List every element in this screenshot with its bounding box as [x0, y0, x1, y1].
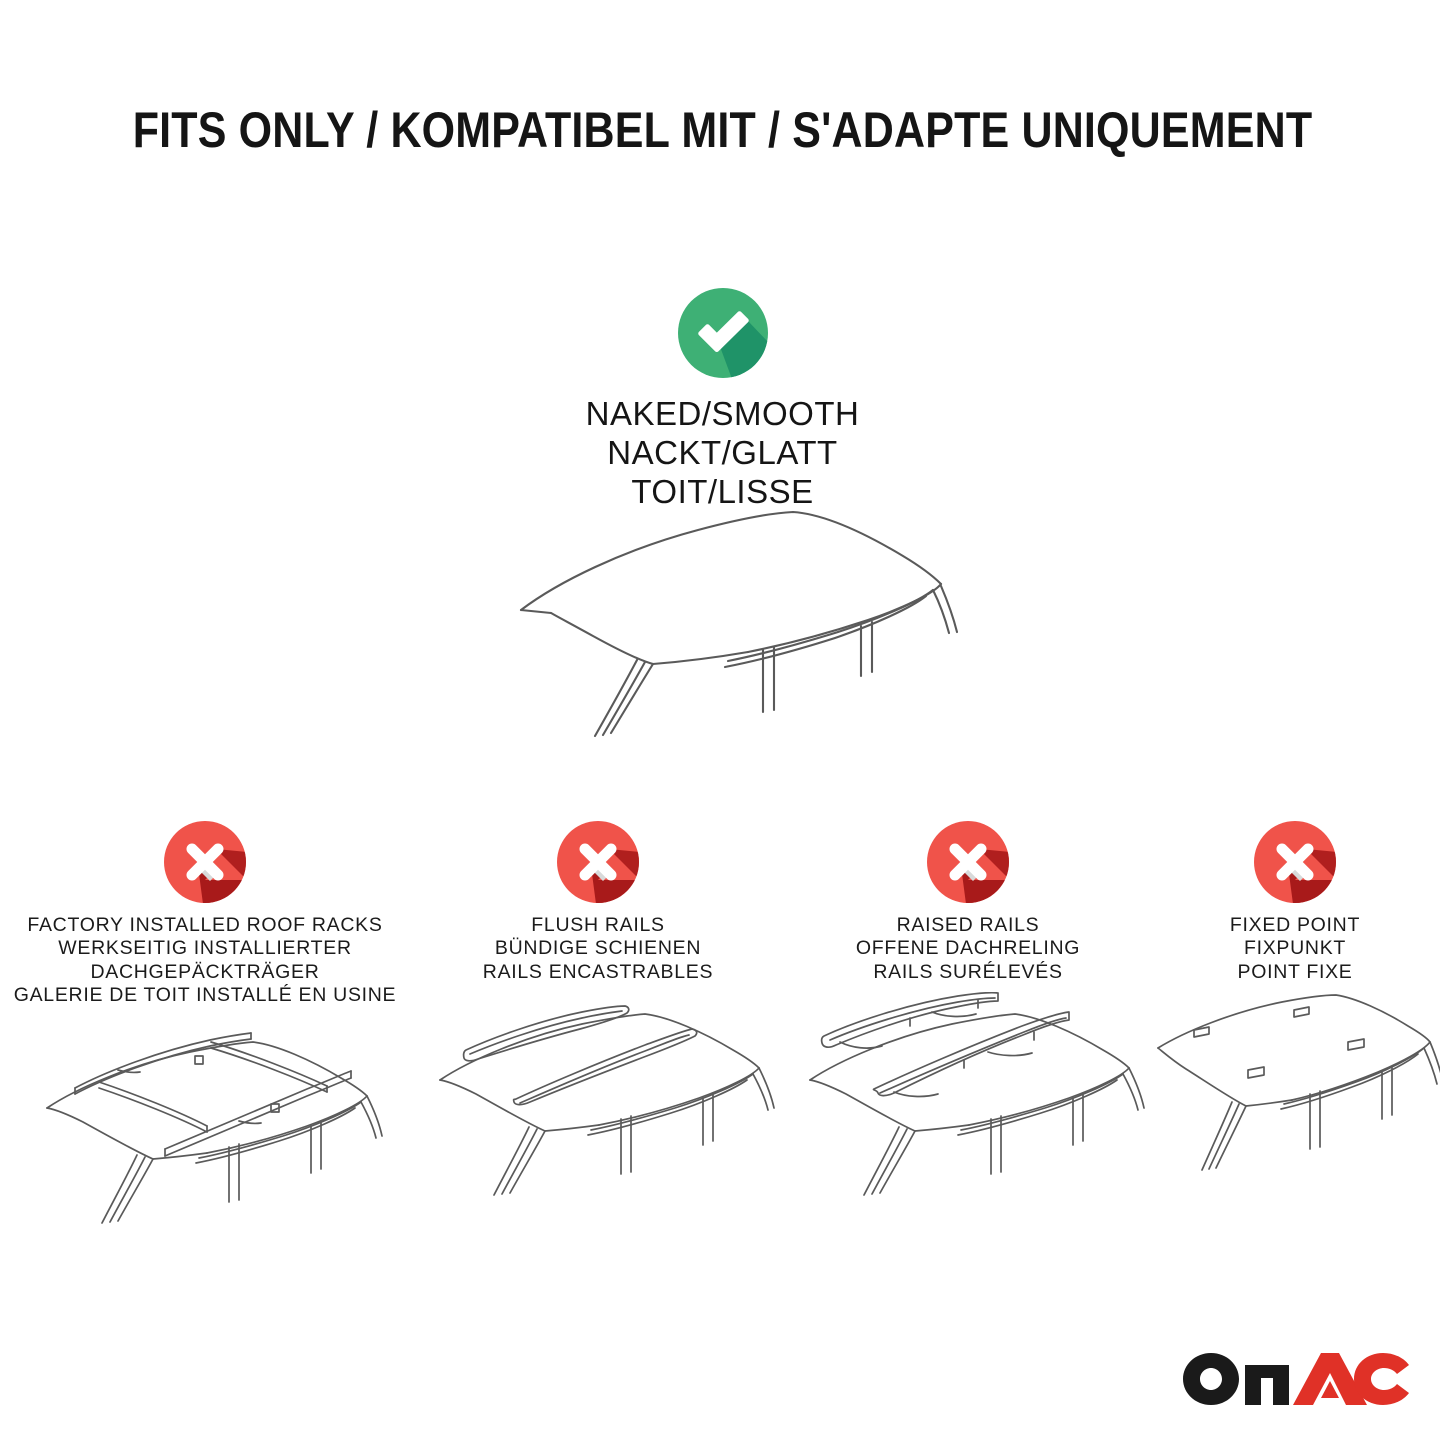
incompatible-label-1-line-2: RAILS ENCASTRABLES	[412, 961, 784, 984]
incompatible-label-0-line-1: WERKSEITIG INSTALLIERTER	[5, 937, 405, 960]
x-circle-svg	[926, 820, 1010, 904]
omac-logo-svg	[1181, 1351, 1411, 1407]
incompatible-label-3-line-1: FIXPUNKT	[1150, 937, 1440, 960]
car-roof-factory-roof-racks-illustration	[5, 1016, 405, 1231]
compatible-label-line-0: NAKED/SMOOTH	[0, 395, 1445, 434]
header: FITS ONLY / KOMPATIBEL MIT / S'ADAPTE UN…	[0, 104, 1445, 157]
incompatible-label-0-line-2: DACHGEPÄCKTRÄGER	[5, 961, 405, 984]
car-roof-naked-smooth-svg	[463, 490, 983, 740]
x-circle-svg	[163, 820, 247, 904]
car-roof-flush-rails-illustration	[412, 992, 784, 1207]
incompatible-label-2-line-0: RAISED RAILS	[782, 914, 1154, 937]
page-title: FITS ONLY / KOMPATIBEL MIT / S'ADAPTE UN…	[101, 104, 1344, 157]
car-roof-factory-roof-racks-svg	[15, 1016, 395, 1231]
incompatible-item-flush-rails: FLUSH RAILS BÜNDIGE SCHIENEN RAILS ENCAS…	[412, 820, 784, 1207]
omac-logo	[1181, 1351, 1411, 1407]
incompatible-label-1-line-0: FLUSH RAILS	[412, 914, 784, 937]
incompatible-label-1-line-1: BÜNDIGE SCHIENEN	[412, 937, 784, 960]
x-circle-icon	[926, 820, 1010, 904]
x-circle-svg	[556, 820, 640, 904]
check-circle-svg	[677, 287, 769, 379]
car-roof-fixed-point-illustration	[1150, 992, 1440, 1207]
incompatible-label-1: FLUSH RAILS BÜNDIGE SCHIENEN RAILS ENCAS…	[412, 914, 784, 984]
car-roof-naked-smooth-illustration	[0, 490, 1445, 740]
x-circle-icon	[163, 820, 247, 904]
incompatible-label-3: FIXED POINT FIXPUNKT POINT FIXE	[1150, 914, 1440, 984]
incompatible-label-3-line-0: FIXED POINT	[1150, 914, 1440, 937]
compatible-label-line-1: NACKT/GLATT	[0, 434, 1445, 473]
car-roof-raised-rails-illustration	[782, 992, 1154, 1207]
car-roof-raised-rails-svg	[782, 992, 1154, 1207]
incompatible-label-2-line-2: RAILS SURÉLEVÉS	[782, 961, 1154, 984]
incompatible-label-0-line-3: GALERIE DE TOIT INSTALLÉ EN USINE	[5, 984, 405, 1007]
incompatible-label-0: FACTORY INSTALLED ROOF RACKS WERKSEITIG …	[5, 914, 405, 1008]
incompatible-item-factory-roof-racks: FACTORY INSTALLED ROOF RACKS WERKSEITIG …	[5, 820, 405, 1231]
car-roof-flush-rails-svg	[412, 992, 784, 1207]
x-circle-icon	[1253, 820, 1337, 904]
incompatible-item-raised-rails: RAISED RAILS OFFENE DACHRELING RAILS SUR…	[782, 820, 1154, 1207]
incompatible-item-fixed-point: FIXED POINT FIXPUNKT POINT FIXE	[1150, 820, 1440, 1207]
incompatible-label-2-line-1: OFFENE DACHRELING	[782, 937, 1154, 960]
incompatible-section: FACTORY INSTALLED ROOF RACKS WERKSEITIG …	[0, 820, 1445, 1250]
incompatible-label-3-line-2: POINT FIXE	[1150, 961, 1440, 984]
incompatible-label-2: RAISED RAILS OFFENE DACHRELING RAILS SUR…	[782, 914, 1154, 984]
incompatible-label-0-line-0: FACTORY INSTALLED ROOF RACKS	[5, 914, 405, 937]
check-circle-icon	[677, 287, 769, 379]
car-roof-fixed-point-svg	[1150, 992, 1440, 1207]
x-circle-icon	[556, 820, 640, 904]
compatible-section: NAKED/SMOOTH NACKT/GLATT TOIT/LISSE	[0, 287, 1445, 512]
x-circle-svg	[1253, 820, 1337, 904]
